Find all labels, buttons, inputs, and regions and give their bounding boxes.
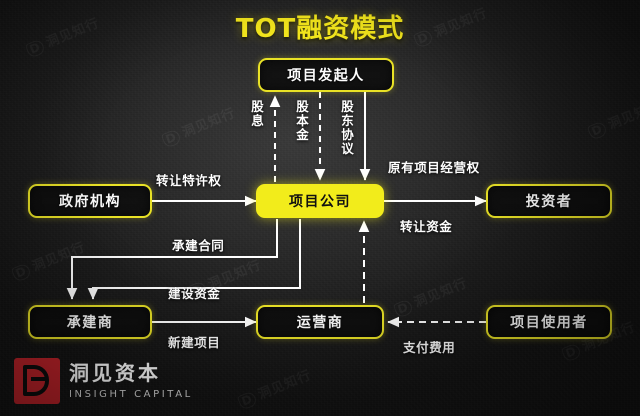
edge-construction-contract [72, 219, 277, 299]
watermark-text: 洞见知行 [180, 106, 238, 141]
watermark: D洞见知行 [185, 254, 263, 300]
watermark-text: 洞见知行 [412, 276, 470, 311]
watermark-text: 洞见知行 [30, 240, 88, 275]
logo-text: 洞见资本 INSIGHT CAPITAL [69, 363, 193, 400]
edge-label-original-operating-rights: 原有项目经营权 [388, 157, 480, 176]
watermark-mark-icon: D [187, 280, 208, 300]
watermark-text: 洞见知行 [206, 258, 264, 293]
watermark-mark-icon: D [11, 262, 32, 282]
edge-label-new-project: 新建项目 [168, 332, 220, 351]
node-government-label: 政府机构 [59, 191, 121, 211]
node-project-company[interactable]: 项目公司 [256, 184, 384, 218]
watermark: D洞见知行 [159, 102, 237, 148]
watermark-mark-icon: D [237, 390, 258, 410]
watermark-text: 洞见知行 [256, 368, 314, 403]
watermark: D洞见知行 [235, 364, 313, 410]
edge-label-dividend: 股息 [247, 100, 266, 128]
edge-label-equity-capital: 股本金 [292, 100, 311, 142]
watermark-mark-icon: D [393, 298, 414, 318]
node-initiator[interactable]: 项目发起人 [258, 58, 394, 92]
watermark: D洞见知行 [585, 94, 640, 140]
node-investor-label: 投资者 [526, 191, 573, 211]
watermark: D洞见知行 [9, 236, 87, 282]
logo-name-en: INSIGHT CAPITAL [69, 390, 193, 400]
logo-name-cn: 洞见资本 [69, 363, 193, 383]
edge-construction-funds [93, 219, 300, 299]
edge-label-shareholder-agreement: 股东协议 [337, 100, 356, 156]
node-project-user[interactable]: 项目使用者 [486, 305, 612, 339]
node-project-company-label: 项目公司 [289, 191, 351, 211]
node-investor[interactable]: 投资者 [486, 184, 612, 218]
node-project-user-label: 项目使用者 [510, 312, 588, 332]
node-operator-label: 运营商 [297, 312, 344, 332]
edge-label-pay-fees: 支付费用 [403, 337, 455, 356]
logo-d-bar [31, 377, 46, 381]
node-government[interactable]: 政府机构 [28, 184, 152, 218]
node-contractor[interactable]: 承建商 [28, 305, 152, 339]
watermark-mark-icon: D [161, 128, 182, 148]
node-initiator-label: 项目发起人 [287, 65, 365, 85]
diagram-canvas: D洞见知行 D洞见知行 D洞见知行 D洞见知行 D洞见知行 D洞见知行 D洞见知… [0, 0, 640, 416]
page-title: TOT融资模式 [0, 8, 640, 45]
watermark: D洞见知行 [391, 272, 469, 318]
edge-label-transfer-funds: 转让资金 [400, 216, 452, 235]
brand-logo: 洞见资本 INSIGHT CAPITAL [14, 358, 193, 404]
watermark-text: 洞见知行 [606, 98, 640, 133]
watermark-mark-icon: D [561, 342, 582, 362]
edge-label-construction-funds: 建设资金 [168, 283, 220, 302]
node-operator[interactable]: 运营商 [256, 305, 384, 339]
edge-label-transfer-franchise: 转让特许权 [156, 170, 222, 189]
logo-d-icon [14, 358, 60, 404]
node-contractor-label: 承建商 [67, 312, 114, 332]
edge-label-construction-contract: 承建合同 [172, 235, 224, 254]
watermark-mark-icon: D [587, 120, 608, 140]
